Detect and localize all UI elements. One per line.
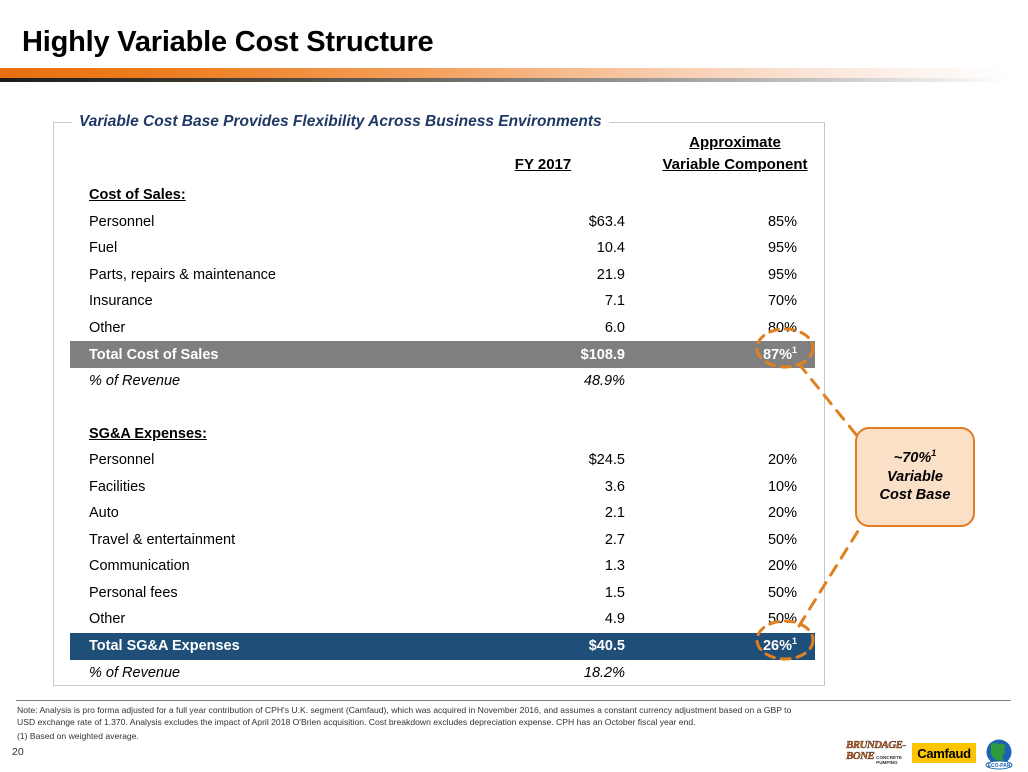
table-row: Parts, repairs & maintenance 21.9 95% bbox=[70, 262, 815, 289]
page-number: 20 bbox=[12, 746, 24, 758]
row-label: Communication bbox=[70, 558, 490, 574]
table-row: Auto 2.1 20% bbox=[70, 500, 815, 527]
table-row: Facilities 3.6 10% bbox=[70, 474, 815, 501]
table-row: Personal fees 1.5 50% bbox=[70, 580, 815, 607]
column-header-fy-2017: FY 2017 bbox=[488, 156, 598, 173]
row-pct: 50% bbox=[625, 585, 815, 601]
table-row: Travel & entertainment 2.7 50% bbox=[70, 527, 815, 554]
row-label: Personal fees bbox=[70, 585, 490, 601]
table-row: Insurance 7.1 70% bbox=[70, 288, 815, 315]
pct-of-revenue-label: % of Revenue bbox=[70, 373, 490, 389]
row-label: Personnel bbox=[70, 214, 490, 230]
pct-of-revenue-value: 48.9% bbox=[490, 373, 625, 389]
callout-line-1: ~70%1 bbox=[894, 449, 937, 468]
total-row-cost-of-sales: Total Cost of Sales $108.9 87%1 bbox=[70, 341, 815, 368]
section-title: SG&A Expenses: bbox=[70, 426, 490, 442]
brundage-bone-logo-line2: BONE bbox=[846, 751, 874, 762]
table-section-header: SG&A Expenses: bbox=[70, 421, 815, 448]
row-value: $63.4 bbox=[490, 214, 625, 230]
row-pct: 20% bbox=[625, 452, 815, 468]
row-value: 4.9 bbox=[490, 611, 625, 627]
column-header-variable-component: Variable Component bbox=[640, 156, 830, 173]
title-divider-dark bbox=[0, 78, 1009, 82]
pct-of-revenue-row: % of Revenue 48.9% bbox=[70, 368, 815, 395]
row-label: Auto bbox=[70, 505, 490, 521]
row-value: 2.1 bbox=[490, 505, 625, 521]
callout-line-3: Cost Base bbox=[880, 486, 951, 505]
total-row-sga-expenses: Total SG&A Expenses $40.5 26%1 bbox=[70, 633, 815, 660]
variable-cost-base-callout: ~70%1 Variable Cost Base bbox=[855, 427, 975, 527]
row-label: Travel & entertainment bbox=[70, 532, 490, 548]
cost-structure-table: Cost of Sales: Personnel $63.4 85% Fuel … bbox=[70, 182, 815, 686]
table-row: Fuel 10.4 95% bbox=[70, 235, 815, 262]
row-value: 1.5 bbox=[490, 585, 625, 601]
row-pct: 50% bbox=[625, 532, 815, 548]
row-pct: 95% bbox=[625, 267, 815, 283]
total-pct: 26%1 bbox=[625, 638, 815, 654]
pct-of-revenue-label: % of Revenue bbox=[70, 665, 490, 681]
row-value: 10.4 bbox=[490, 240, 625, 256]
row-pct: 80% bbox=[625, 320, 815, 336]
table-row: Personnel $63.4 85% bbox=[70, 209, 815, 236]
row-value: 7.1 bbox=[490, 293, 625, 309]
section-spacer bbox=[70, 395, 815, 421]
eco-pan-logo-text: ECO-PAN bbox=[988, 763, 1011, 769]
row-label: Fuel bbox=[70, 240, 490, 256]
camfaud-logo: Camfaud bbox=[912, 743, 976, 763]
row-value: 21.9 bbox=[490, 267, 625, 283]
footnote-one: (1) Based on weighted average. bbox=[17, 731, 139, 741]
row-pct: 95% bbox=[625, 240, 815, 256]
row-label: Personnel bbox=[70, 452, 490, 468]
total-pct: 87%1 bbox=[625, 347, 815, 363]
table-row: Personnel $24.5 20% bbox=[70, 447, 815, 474]
eco-pan-globe-logo: ECO-PAN bbox=[982, 738, 1016, 770]
table-row: Other 4.9 50% bbox=[70, 606, 815, 633]
footnote-divider bbox=[16, 700, 1011, 701]
brundage-bone-tagline2: PUMPING bbox=[876, 761, 902, 766]
slide-canvas: Highly Variable Cost Structure Variable … bbox=[0, 0, 1028, 772]
row-pct: 20% bbox=[625, 558, 815, 574]
row-label: Facilities bbox=[70, 479, 490, 495]
column-header-approximate: Approximate bbox=[640, 134, 830, 151]
row-pct: 50% bbox=[625, 611, 815, 627]
row-value: 2.7 bbox=[490, 532, 625, 548]
table-row: Other 6.0 80% bbox=[70, 315, 815, 342]
row-value: 1.3 bbox=[490, 558, 625, 574]
row-value: $24.5 bbox=[490, 452, 625, 468]
total-label: Total SG&A Expenses bbox=[70, 638, 490, 654]
page-title: Highly Variable Cost Structure bbox=[22, 26, 433, 59]
section-title: Cost of Sales: bbox=[70, 187, 490, 203]
total-value: $40.5 bbox=[490, 638, 625, 654]
camfaud-logo-text: Camfaud bbox=[917, 746, 971, 761]
footnote-note: Note: Analysis is pro forma adjusted for… bbox=[17, 704, 807, 729]
table-row: Communication 1.3 20% bbox=[70, 553, 815, 580]
callout-line-2: Variable bbox=[887, 468, 943, 487]
row-label: Other bbox=[70, 611, 490, 627]
row-label: Other bbox=[70, 320, 490, 336]
row-value: 6.0 bbox=[490, 320, 625, 336]
row-pct: 10% bbox=[625, 479, 815, 495]
row-label: Parts, repairs & maintenance bbox=[70, 267, 490, 283]
total-label: Total Cost of Sales bbox=[70, 347, 490, 363]
pct-of-revenue-value: 18.2% bbox=[490, 665, 625, 681]
total-value: $108.9 bbox=[490, 347, 625, 363]
brundage-bone-logo: BRUNDAGE- BONE CONCRETE PUMPING bbox=[846, 740, 908, 766]
pct-of-revenue-row: % of Revenue 18.2% bbox=[70, 660, 815, 687]
row-value: 3.6 bbox=[490, 479, 625, 495]
logo-strip: BRUNDAGE- BONE CONCRETE PUMPING Camfaud … bbox=[846, 738, 1026, 770]
frame-heading: Variable Cost Base Provides Flexibility … bbox=[72, 113, 609, 131]
row-pct: 70% bbox=[625, 293, 815, 309]
table-section-header: Cost of Sales: bbox=[70, 182, 815, 209]
title-divider-orange bbox=[0, 68, 1009, 78]
row-pct: 85% bbox=[625, 214, 815, 230]
row-pct: 20% bbox=[625, 505, 815, 521]
row-label: Insurance bbox=[70, 293, 490, 309]
